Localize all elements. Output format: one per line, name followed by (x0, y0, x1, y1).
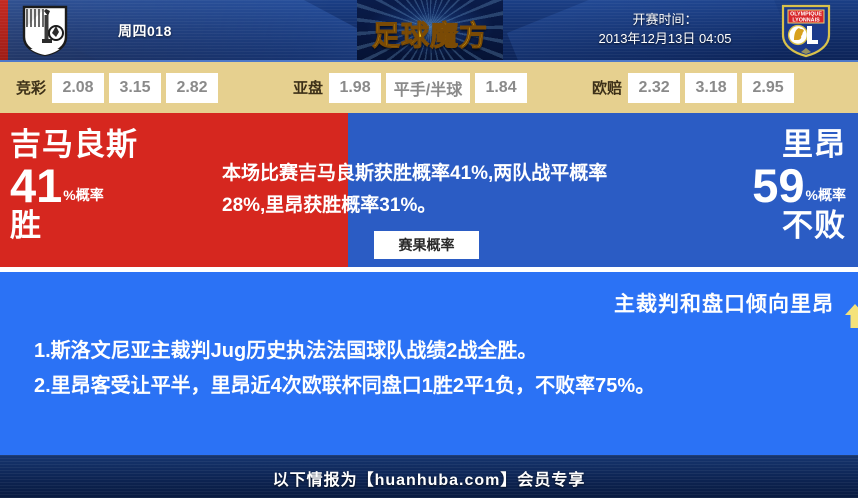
odds-cell-asian-handicap[interactable]: 平手/半球 (386, 73, 470, 103)
odds-cell-jingcai-draw[interactable]: 3.15 (109, 73, 161, 103)
home-team-name: 吉马良斯 (10, 129, 138, 160)
svg-text:LYONNAIS: LYONNAIS (792, 17, 820, 23)
home-team-stat: 吉马良斯 41 %概率 胜 (10, 129, 138, 241)
olympique-lyonnais-crest: OLYMPIQUE LYONNAIS (781, 4, 831, 58)
tips-headline-text: 主裁判和盘口倾向里昂 (614, 288, 834, 318)
kickoff-value: 2013年12月13日 04:05 (560, 29, 770, 48)
home-probability-percent: 41 (10, 165, 62, 206)
home-probability-figure: 41 %概率 (10, 165, 138, 206)
match-preview-card: 周四018 足球魔方 开赛时间： 2013年12月13日 04:05 OLYMP… (0, 0, 858, 498)
away-team-stat: 里昂 59 %概率 不败 (752, 129, 846, 241)
list-item: 1.斯洛文尼亚主裁判Jug历史执法法国球队战绩2战全胜。 (34, 334, 824, 369)
odds-cell-asian-away[interactable]: 1.84 (475, 73, 527, 103)
kickoff-label: 开赛时间： (560, 11, 770, 29)
vitoria-guimaraes-crest (22, 5, 68, 57)
odds-cell-euro-away[interactable]: 2.95 (742, 73, 794, 103)
header-decoration-left (42, 0, 377, 62)
away-probability-figure: 59 %概率 (752, 165, 846, 206)
odds-cell-euro-home[interactable]: 2.32 (628, 73, 680, 103)
tips-list: 1.斯洛文尼亚主裁判Jug历史执法法国球队战绩2战全胜。 2.里昂客受让平半，里… (34, 334, 824, 404)
away-probability-unit: %概率 (806, 188, 846, 206)
odds-cell-jingcai-home[interactable]: 2.08 (52, 73, 104, 103)
tips-panel: 主裁判和盘口倾向里昂 1.斯洛文尼亚主裁判Jug历史执法法国球队战绩2战全胜。 … (0, 272, 858, 455)
match-round-label: 周四018 (118, 21, 172, 41)
odds-cell-asian-home[interactable]: 1.98 (329, 73, 381, 103)
footer-bar: 以下情报为【huanhuba.com】会员专享 (0, 455, 858, 498)
odds-bar: 竞彩 2.08 3.15 2.82 亚盘 1.98 平手/半球 1.84 欧赔 … (0, 62, 858, 113)
away-team-name: 里昂 (752, 129, 846, 160)
odds-label-euro: 欧赔 (592, 77, 622, 98)
kickoff-info: 开赛时间： 2013年12月13日 04:05 (560, 11, 770, 48)
footer-membership-note: 以下情报为【huanhuba.com】会员专享 (0, 466, 858, 490)
odds-group-euro: 欧赔 2.32 3.18 2.95 (592, 73, 799, 103)
away-probability-percent: 59 (752, 165, 804, 206)
odds-group-jingcai: 竞彩 2.08 3.15 2.82 (16, 73, 223, 103)
tab-result-probability[interactable]: 赛果概率 (374, 231, 479, 259)
tips-headline: 主裁判和盘口倾向里昂 (614, 288, 844, 318)
brand-logo: 足球魔方 (357, 0, 503, 60)
away-result-label: 不败 (752, 210, 846, 241)
probability-summary-text: 本场比赛吉马良斯获胜概率41%,两队战平概率28%,里昂获胜概率31%。 (222, 158, 627, 222)
odds-label-asian: 亚盘 (293, 77, 323, 98)
header-accent-stripe (0, 0, 8, 62)
odds-label-jingcai: 竞彩 (16, 77, 46, 98)
odds-cell-euro-draw[interactable]: 3.18 (685, 73, 737, 103)
odds-group-asian: 亚盘 1.98 平手/半球 1.84 (293, 73, 532, 103)
header-bar: 周四018 足球魔方 开赛时间： 2013年12月13日 04:05 OLYMP… (0, 0, 858, 62)
home-probability-unit: %概率 (63, 188, 103, 206)
list-item: 2.里昂客受让平半，里昂近4次欧联杯同盘口1胜2平1负，不败率75%。 (34, 369, 824, 404)
odds-cell-jingcai-away[interactable]: 2.82 (166, 73, 218, 103)
home-result-label: 胜 (10, 210, 138, 241)
brand-logo-text: 足球魔方 (357, 14, 503, 54)
probability-panel: 吉马良斯 41 %概率 胜 里昂 59 %概率 不败 本场比赛吉马良斯获胜概率4… (0, 113, 858, 267)
